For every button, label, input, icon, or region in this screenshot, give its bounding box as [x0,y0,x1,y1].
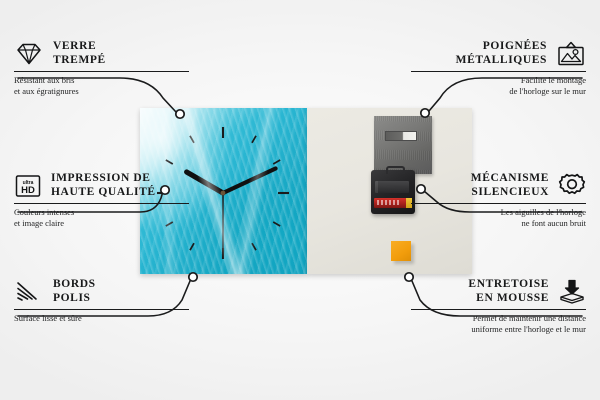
callout-description: Couleurs intenses et image claire [14,207,189,228]
polished-edges-icon [14,280,44,304]
callout-rule [14,309,189,310]
connector-dot-bords [189,273,197,281]
clock-hour-hand [187,172,223,193]
picture-hanger-icon [556,41,586,67]
mechanism-detail [375,181,409,193]
callout-description: Facilite le montage de l'horloge sur le … [411,75,586,96]
callout-description: Résistant aux bris et aux égratignures [14,75,189,96]
callout-description: Permet de maintenir une distance uniform… [411,313,586,334]
clock-tick [252,243,256,250]
clock-tick [252,136,256,143]
gear-icon [558,173,586,199]
callout-header: VERRE TREMPÉ [14,40,189,67]
callout-header: ENTRETOISE EN MOUSSE [411,278,586,305]
clock-mechanism [371,170,415,214]
mechanism-tab [386,166,405,174]
callout-impression-haute-qualite: ultra HD IMPRESSION DE HAUTE QUALITÉ Cou… [14,172,189,228]
callout-poignees-metalliques: POIGNÉES MÉTALLIQUES Facilite le montage… [411,40,586,96]
aa-battery [374,198,412,208]
clock-minute-hand [223,168,276,193]
callout-rule [14,203,189,204]
callout-header: MÉCANISME SILENCIEUX [411,172,586,199]
product-infographic: VERRE TREMPÉ Résistant aux bris et aux é… [0,0,600,400]
callout-title: IMPRESSION DE HAUTE QUALITÉ [51,172,156,199]
callout-rule [411,309,586,310]
callout-title: ENTRETOISE EN MOUSSE [468,278,549,305]
diamond-icon [14,42,44,66]
clock-tick [166,160,173,164]
foam-spacer [391,241,411,261]
battery-label [377,200,399,205]
callout-title: BORDS POLIS [53,278,96,305]
hanger-keyhole-slot [385,131,417,141]
ultra-hd-icon-main-text: HD [21,185,35,196]
clock-tick [190,243,194,250]
callout-rule [14,71,189,72]
ultra-hd-icon: ultra HD [14,174,42,198]
clock-center-hub [221,191,226,196]
callout-title: MÉCANISME SILENCIEUX [471,172,549,199]
clock-tick [273,160,280,164]
callout-rule [411,203,586,204]
callout-description: Les aiguilles de l'horloge ne font aucun… [411,207,586,228]
callout-header: BORDS POLIS [14,278,189,305]
clock-tick [273,222,280,226]
callout-description: Surface lisse et sûre [14,313,189,324]
callout-header: ultra HD IMPRESSION DE HAUTE QUALITÉ [14,172,189,199]
foam-spacer-icon [558,279,586,305]
callout-mecanisme-silencieux: MÉCANISME SILENCIEUX Les aiguilles de l'… [411,172,586,228]
callout-header: POIGNÉES MÉTALLIQUES [411,40,586,67]
callout-title: POIGNÉES MÉTALLIQUES [456,40,547,67]
callout-entretoise-en-mousse: ENTRETOISE EN MOUSSE Permet de maintenir… [411,278,586,334]
callout-verre-trempe: VERRE TREMPÉ Résistant aux bris et aux é… [14,40,189,96]
callout-title: VERRE TREMPÉ [53,40,106,67]
callout-rule [411,71,586,72]
callout-bords-polis: BORDS POLIS Surface lisse et sûre [14,278,189,324]
clock-tick [190,136,194,143]
